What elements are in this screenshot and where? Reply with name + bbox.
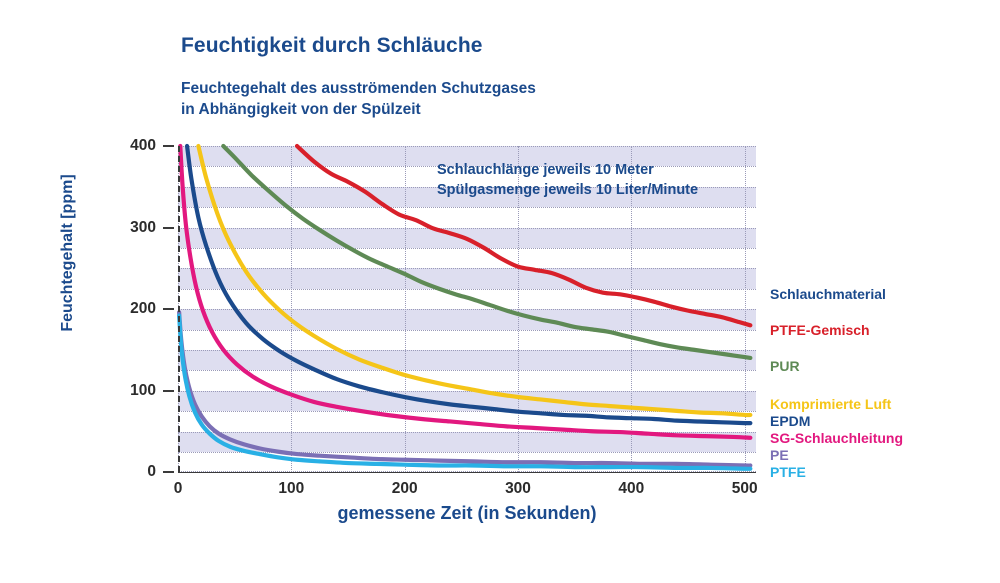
y-tick-label: 0: [96, 463, 156, 481]
y-axis-line: [178, 146, 180, 472]
plot-annotation: Schlauchlänge jeweils 10 Meter Spülgasme…: [437, 160, 698, 200]
chart-subtitle: Feuchtegehalt des ausströmenden Schutzga…: [181, 78, 536, 120]
legend-heading: Schlauchmaterial: [770, 286, 886, 302]
y-tick-mark: [163, 390, 174, 392]
x-tick-label: 400: [596, 480, 666, 498]
legend-item-komprimierte-luft[interactable]: Komprimierte Luft: [770, 396, 891, 412]
x-tick-label: 0: [143, 480, 213, 498]
x-tick-label: 100: [256, 480, 326, 498]
x-tick-label: 300: [483, 480, 553, 498]
legend-item-pe[interactable]: PE: [770, 447, 789, 463]
annotation-line-1: Schlauchlänge jeweils 10 Meter: [437, 160, 698, 180]
chart-figure: Feuchtigkeit durch Schläuche Feuchtegeha…: [0, 0, 1000, 583]
legend-item-ptfe[interactable]: PTFE: [770, 464, 806, 480]
chart-subtitle-line-1: Feuchtegehalt des ausströmenden Schutzga…: [181, 78, 536, 99]
y-axis-title: Feuchtegehalt [ppm]: [59, 123, 77, 383]
y-axis-ticks: 0100200300400: [100, 146, 178, 472]
legend-item-ptfe-gemisch[interactable]: PTFE-Gemisch: [770, 322, 870, 338]
x-tick-label: 200: [370, 480, 440, 498]
x-axis-title: gemessene Zeit (in Sekunden): [178, 503, 756, 524]
y-tick-mark: [163, 471, 174, 473]
legend-item-pur[interactable]: PUR: [770, 358, 800, 374]
annotation-line-2: Spülgasmenge jeweils 10 Liter/Minute: [437, 180, 698, 200]
page-title: Feuchtigkeit durch Schläuche: [181, 34, 483, 58]
y-tick-label: 300: [96, 219, 156, 237]
y-tick-label: 100: [96, 382, 156, 400]
legend-item-epdm[interactable]: EPDM: [770, 413, 810, 429]
x-tick-label: 500: [710, 480, 780, 498]
y-tick-label: 400: [96, 137, 156, 155]
y-tick-mark: [163, 145, 174, 147]
legend-item-sg-schlauchleitung[interactable]: SG-Schlauchleitung: [770, 430, 903, 446]
y-tick-mark: [163, 308, 174, 310]
chart-subtitle-line-2: in Abhängigkeit von der Spülzeit: [181, 99, 536, 120]
y-tick-label: 200: [96, 300, 156, 318]
y-tick-mark: [163, 227, 174, 229]
